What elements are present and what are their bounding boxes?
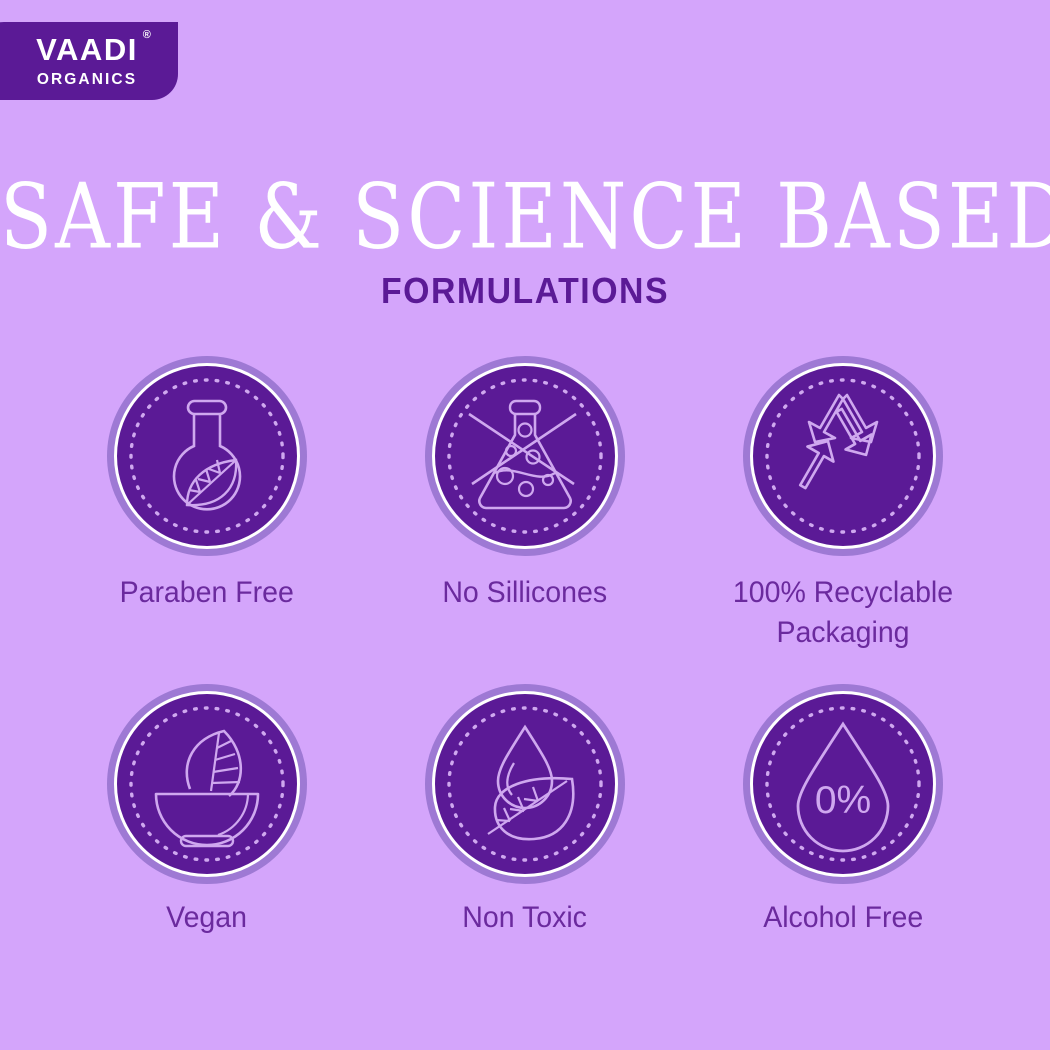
badge-alcohol-free: 0% Alcohol Free <box>684 684 1002 938</box>
badge-recyclable-packaging: 100% Recyclable Packaging <box>684 356 1002 653</box>
badge-halo <box>425 684 625 884</box>
brand-logo: VAADI® ORGANICS <box>0 22 178 100</box>
badge-label: Vegan <box>167 898 248 938</box>
brand-name: VAADI® <box>36 34 138 65</box>
badge-label: Paraben Free <box>120 573 294 613</box>
feature-badge-grid: Paraben Free <box>0 356 1050 938</box>
crossed-flask-icon <box>432 363 618 549</box>
badge-disc <box>432 363 618 549</box>
badge-halo <box>743 356 943 556</box>
badge-label: No Sillicones <box>443 573 608 613</box>
bowl-leaf-icon <box>114 691 300 877</box>
droplet-leaf-icon <box>432 691 618 877</box>
page-subtitle: FORMULATIONS <box>32 270 1019 312</box>
badge-row-bottom: Vegan Non Toxic <box>0 684 1050 938</box>
registered-trademark-icon: ® <box>143 30 151 41</box>
droplet-zero-percent-icon: 0% <box>750 691 936 877</box>
badge-halo <box>425 356 625 556</box>
page-title: SAFE & SCIENCE BASED <box>0 172 1050 262</box>
badge-label: 100% Recyclable Packaging <box>705 573 981 653</box>
brand-name-text: VAADI <box>36 32 138 67</box>
badge-halo <box>107 684 307 884</box>
badge-label: Alcohol Free <box>763 898 923 938</box>
badge-vegan: Vegan <box>48 684 366 938</box>
badge-disc: 0% <box>750 691 936 877</box>
badge-disc <box>114 363 300 549</box>
zero-percent-text: 0% <box>815 779 871 822</box>
badge-non-toxic: Non Toxic <box>366 684 684 938</box>
badge-paraben-free: Paraben Free <box>48 356 366 653</box>
badge-halo: 0% <box>743 684 943 884</box>
flask-leaf-icon <box>114 363 300 549</box>
brand-tagline: ORGANICS <box>37 72 137 88</box>
badge-no-sillicones: No Sillicones <box>366 356 684 653</box>
recycle-icon <box>750 363 936 549</box>
badge-row-top: Paraben Free <box>0 356 1050 653</box>
badge-halo <box>107 356 307 556</box>
badge-disc <box>750 363 936 549</box>
badge-label: Non Toxic <box>463 898 588 938</box>
badge-disc <box>432 691 618 877</box>
badge-disc <box>114 691 300 877</box>
